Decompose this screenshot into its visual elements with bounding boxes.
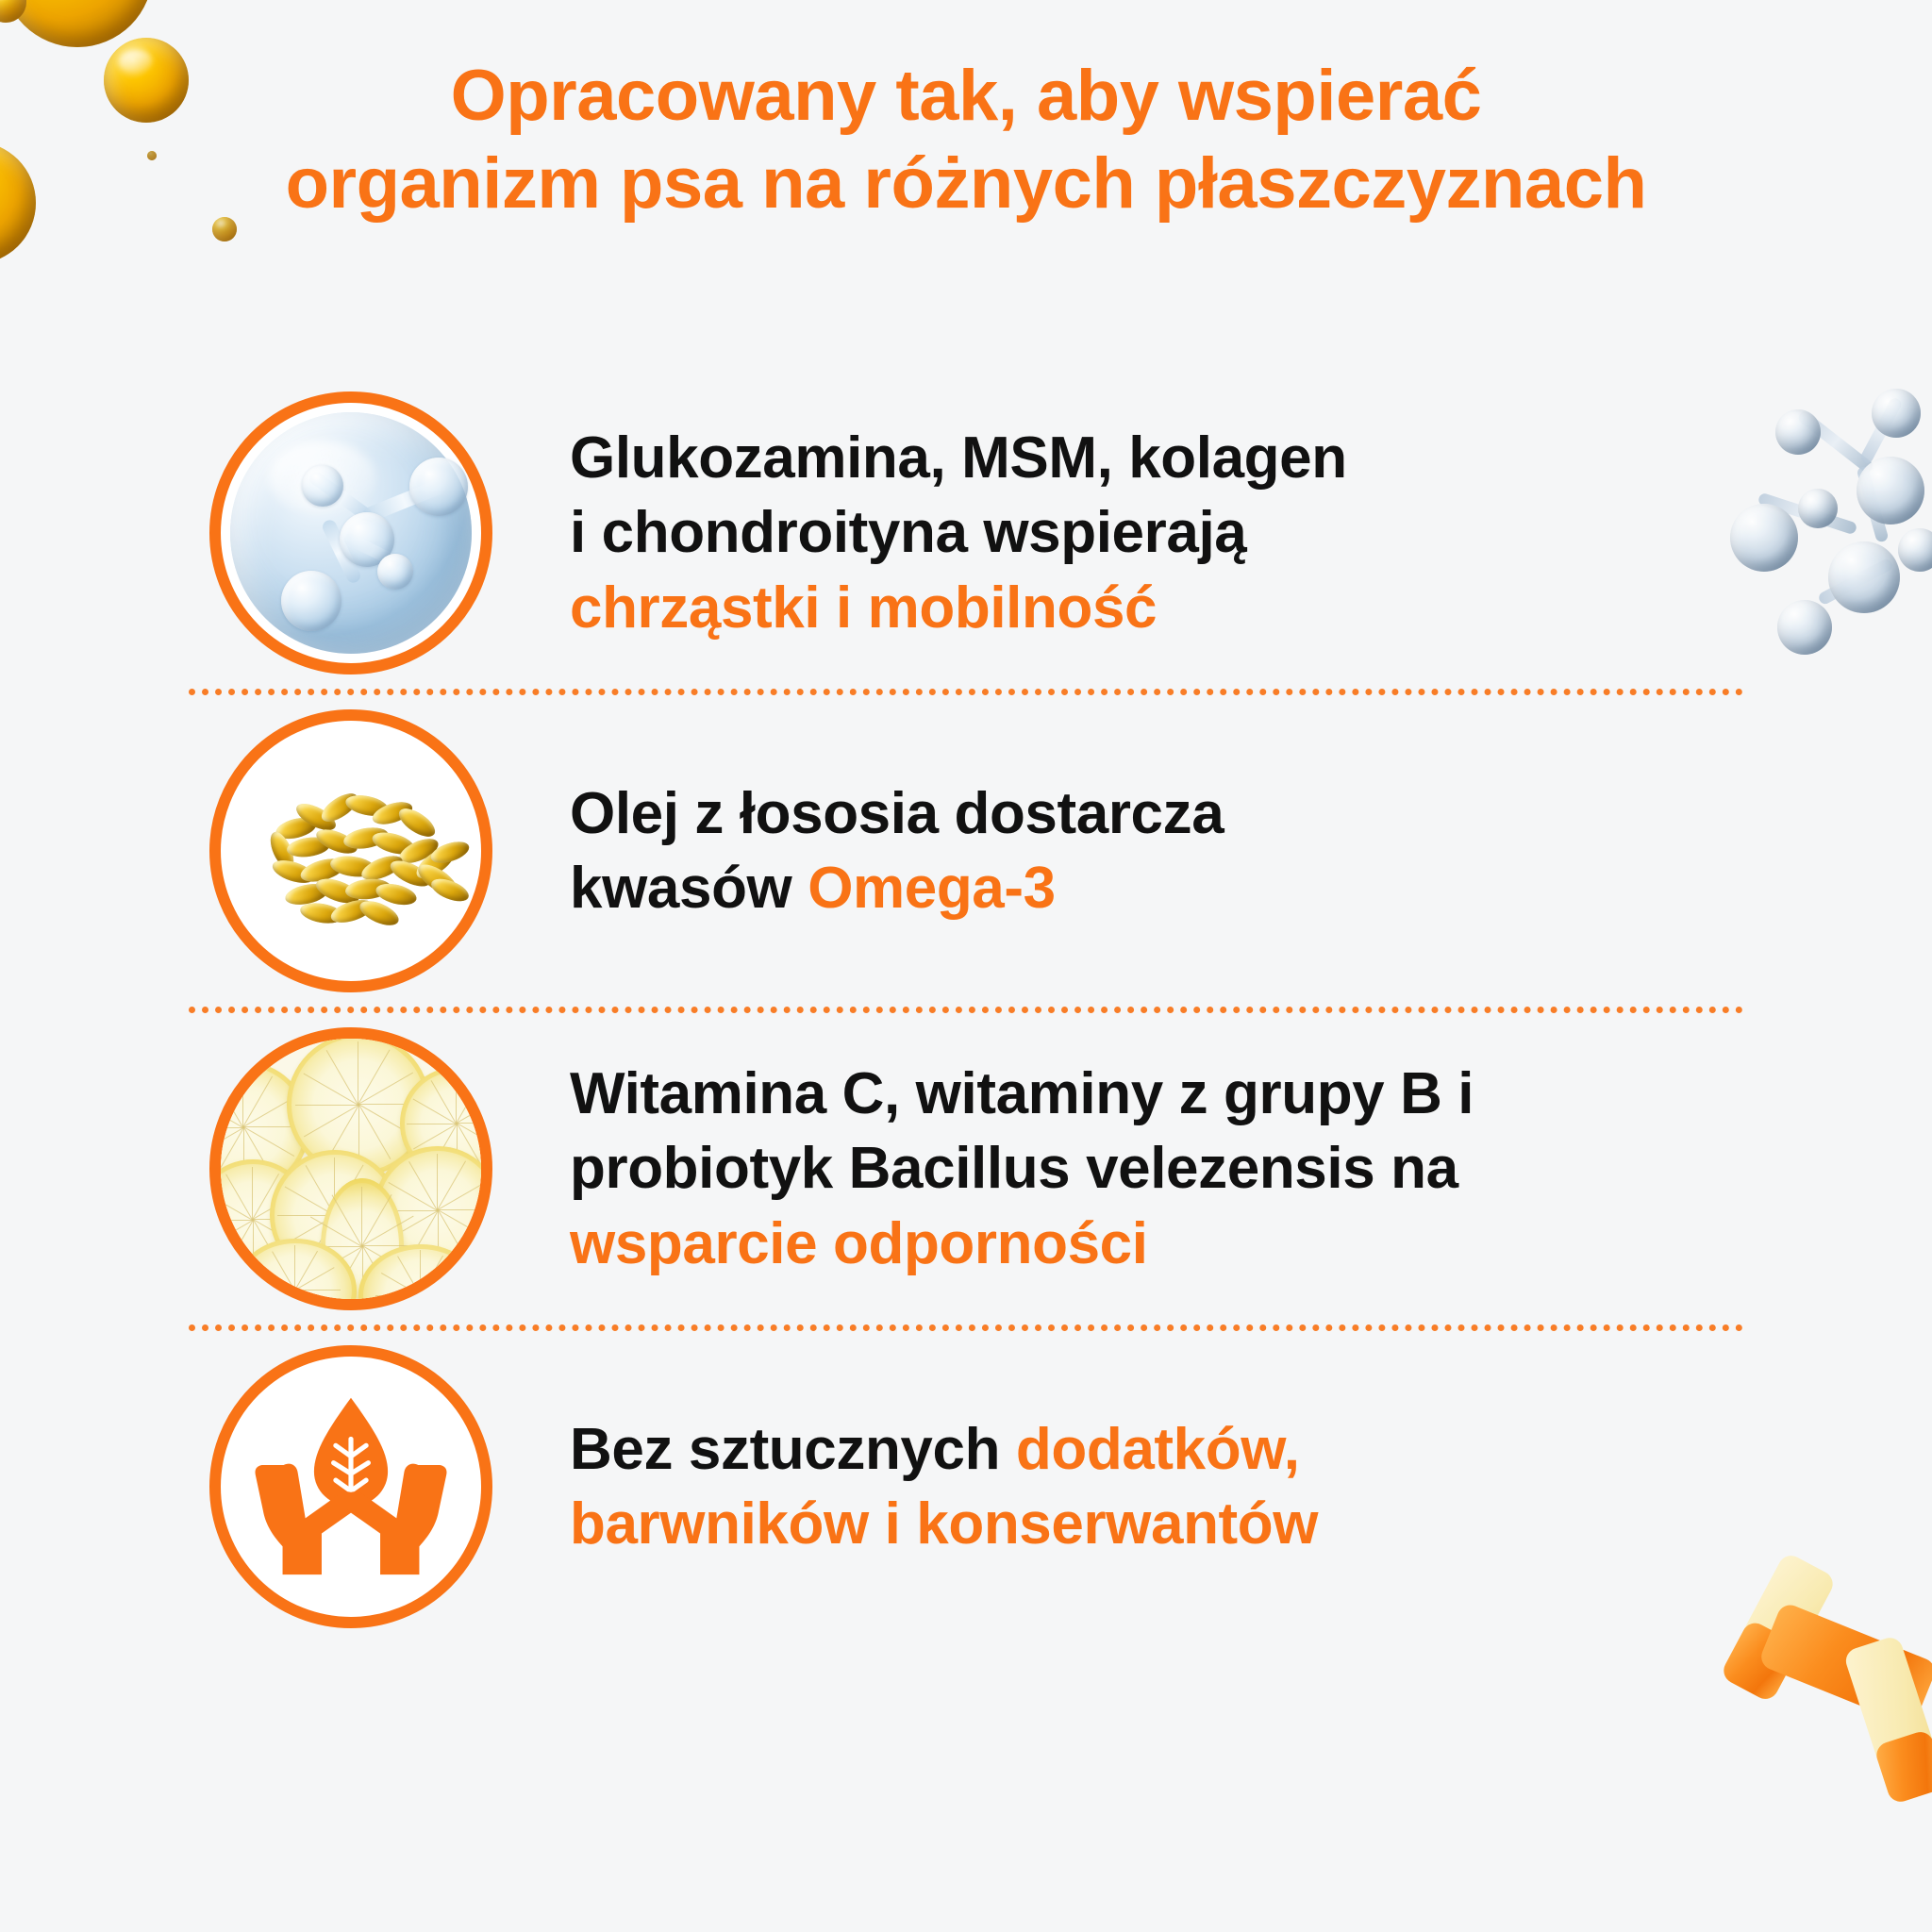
glass-node bbox=[281, 571, 341, 631]
row-divider bbox=[189, 1324, 1743, 1331]
glass-node bbox=[302, 465, 343, 507]
feature-line: Olej z łososia dostarcza bbox=[570, 776, 1224, 851]
feature-line: Glukozamina, MSM, kolagen bbox=[570, 421, 1347, 495]
feature-text-immunity: Witamina C, witaminy z grupy B i probiot… bbox=[570, 1057, 1474, 1281]
feature-line-highlight: Omega-3 bbox=[808, 856, 1056, 921]
lemon-slices-icon bbox=[209, 1027, 492, 1310]
feature-line-highlight: barwników i konserwantów bbox=[570, 1487, 1318, 1561]
hands-holding-leaf-icon bbox=[209, 1345, 492, 1628]
feature-row-omega: Olej z łososia dostarcza kwasów Omega-3 bbox=[0, 695, 1932, 1007]
feature-text-natural: Bez sztucznych dodatków, barwników i kon… bbox=[570, 1412, 1318, 1562]
row-divider bbox=[189, 1007, 1743, 1013]
feature-text-omega: Olej z łososia dostarcza kwasów Omega-3 bbox=[570, 776, 1224, 926]
feature-line-prefix: kwasów bbox=[570, 856, 808, 921]
glass-node bbox=[409, 458, 468, 516]
feature-row-natural: Bez sztucznych dodatków, barwników i kon… bbox=[0, 1331, 1932, 1642]
lemon-photo bbox=[221, 1039, 481, 1299]
hands-leaf-glyph bbox=[242, 1378, 459, 1595]
feature-list: Glukozamina, MSM, kolagen i chondroityna… bbox=[0, 377, 1932, 1642]
page-title-line-2: organizm psa na różnych płaszczyznach bbox=[286, 143, 1647, 224]
glass-node bbox=[377, 554, 413, 590]
feature-row-joints: Glukozamina, MSM, kolagen i chondroityna… bbox=[0, 377, 1932, 689]
feature-line: Witamina C, witaminy z grupy B i bbox=[570, 1057, 1474, 1131]
feature-line-highlight: chrząstki i mobilność bbox=[570, 571, 1347, 645]
feature-row-immunity: Witamina C, witaminy z grupy B i probiot… bbox=[0, 1013, 1932, 1324]
feature-text-joints: Glukozamina, MSM, kolagen i chondroityna… bbox=[570, 421, 1347, 645]
fish-oil-capsules-icon bbox=[209, 709, 492, 992]
feature-line-highlight: dodatków, bbox=[1016, 1417, 1300, 1482]
molecule-bubble-icon bbox=[209, 391, 492, 675]
feature-line: i chondroityna wspierają bbox=[570, 495, 1347, 570]
page-title-line-1: Opracowany tak, aby wspierać bbox=[451, 56, 1482, 136]
feature-line: probiotyk Bacillus velezensis na bbox=[570, 1131, 1474, 1206]
feature-line: kwasów Omega-3 bbox=[570, 851, 1224, 925]
row-divider bbox=[189, 689, 1743, 695]
feature-line: Bez sztucznych dodatków, bbox=[570, 1412, 1318, 1487]
feature-line-highlight: wsparcie odporności bbox=[570, 1207, 1474, 1281]
page-title: Opracowany tak, aby wspierać organizm ps… bbox=[0, 53, 1932, 227]
feature-line-prefix: Bez sztucznych bbox=[570, 1417, 1016, 1482]
